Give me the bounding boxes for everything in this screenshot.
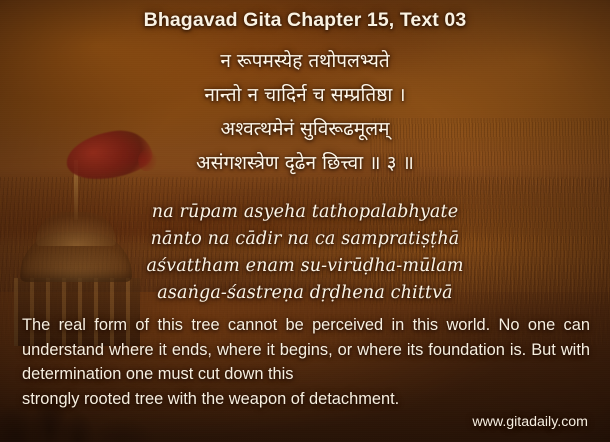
poster-content: Bhagavad Gita Chapter 15, Text 03 न रूपम… xyxy=(0,0,610,442)
transliteration-verse: na rūpam asyeha tathopalabhyate nānto na… xyxy=(0,199,610,307)
sanskrit-line-3: अश्वत्थमेनं सुविरूढमूलम् xyxy=(0,112,610,146)
website-url[interactable]: www.gitadaily.com xyxy=(472,414,588,430)
sanskrit-line-2: नान्तो न चादिर्न च सम्प्रतिष्ठा । xyxy=(0,78,610,112)
transliteration-line-2: nānto na cādir na ca sampratiṣṭhā xyxy=(0,226,610,253)
transliteration-line-1: na rūpam asyeha tathopalabhyate xyxy=(0,199,610,226)
transliteration-line-4: asaṅga-śastreṇa dṛḍhena chittvā xyxy=(0,280,610,307)
translation-last-line: strongly rooted tree with the weapon of … xyxy=(22,387,590,412)
sanskrit-verse: न रूपमस्येह तथोपलभ्यते नान्तो न चादिर्न … xyxy=(0,44,610,180)
sanskrit-line-1: न रूपमस्येह तथोपलभ्यते xyxy=(0,44,610,78)
transliteration-line-3: aśvattham enam su-virūḍha-mūlam xyxy=(0,253,610,280)
translation-body: The real form of this tree cannot be per… xyxy=(22,316,590,383)
translation-text: The real form of this tree cannot be per… xyxy=(22,313,590,411)
gita-verse-poster: Bhagavad Gita Chapter 15, Text 03 न रूपम… xyxy=(0,0,610,442)
page-title: Bhagavad Gita Chapter 15, Text 03 xyxy=(0,9,610,32)
sanskrit-line-4: असंगशस्त्रेण दृढेन छित्त्वा ॥ ३ ॥ xyxy=(0,146,610,180)
